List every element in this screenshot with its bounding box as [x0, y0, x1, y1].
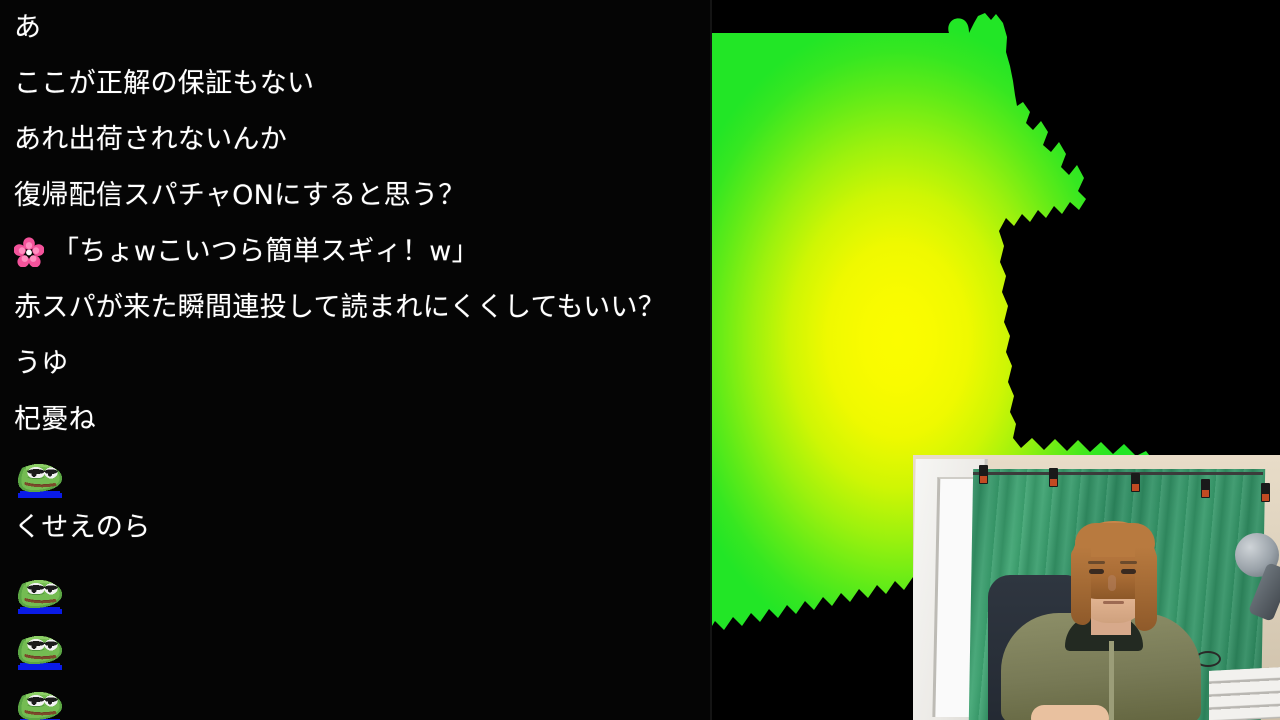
pepe-sadge-emote-icon	[14, 460, 70, 500]
streamer-webcam-overlay[interactable]	[913, 455, 1280, 720]
chat-message-text: うゆ	[14, 349, 69, 379]
streamer-hair-right	[1135, 547, 1157, 631]
curtain-clip	[1201, 479, 1210, 498]
nose	[1108, 575, 1116, 591]
chat-message[interactable]: 杞憂ね	[0, 392, 711, 448]
pepe-sadge-emote	[14, 460, 70, 500]
curtain-clip	[979, 465, 988, 484]
chat-message[interactable]	[0, 624, 711, 680]
pepe-sadge-emote-icon	[14, 576, 70, 616]
mouth	[1103, 601, 1124, 604]
stream-overlay-stage: あここが正解の保証もないあれ出荷されないんか復帰配信スパチャONにすると思う？「…	[0, 0, 1280, 720]
eye-left	[1089, 569, 1104, 574]
curtain-clip	[1261, 483, 1270, 502]
chat-message[interactable]: 復帰配信スパチャONにすると思う？	[0, 168, 711, 224]
chat-message-text: 赤スパが来た瞬間連投して読まれにくくしてもいい？	[14, 293, 665, 323]
pepe-sadge-emote	[14, 576, 70, 616]
chat-message[interactable]: ここが正解の保証もない	[0, 56, 711, 112]
chat-message[interactable]: あ	[0, 0, 711, 56]
jacket-zipper	[1109, 641, 1114, 720]
eyebrow-right	[1120, 561, 1137, 564]
chat-message[interactable]: くせえのら	[0, 500, 711, 556]
chat-message-text: 復帰配信スパチャONにすると思う？	[14, 181, 466, 211]
curtain-clip	[1049, 468, 1058, 487]
chat-message-text: ここが正解の保証もない	[14, 69, 314, 99]
curtain-clip	[1131, 473, 1140, 492]
chat-message-text: あれ出荷されないんか	[14, 125, 287, 155]
chat-message[interactable]: うゆ	[0, 336, 711, 392]
eyebrow-left	[1088, 561, 1105, 564]
chat-message-text: 杞憂ね	[14, 405, 96, 435]
streamer-hair-left	[1071, 547, 1091, 625]
cherry-blossom-icon	[14, 237, 44, 267]
eye-right	[1121, 569, 1136, 574]
live-chat-panel[interactable]: あここが正解の保証もないあれ出荷されないんか復帰配信スパチャONにすると思う？「…	[0, 0, 711, 720]
chat-message-text: 「ちょwこいつら簡単スギィ！w」	[52, 237, 479, 267]
chat-message[interactable]: あれ出荷されないんか	[0, 112, 711, 168]
book-stack	[1209, 667, 1280, 720]
chat-message-text: くせえのら	[14, 513, 151, 543]
pepe-sadge-emote	[14, 632, 70, 672]
chat-message[interactable]	[0, 568, 711, 624]
chat-message[interactable]	[0, 680, 711, 720]
chat-message-text: あ	[14, 13, 41, 43]
pepe-sadge-emote-icon	[14, 632, 70, 672]
cherry-blossom-icon	[14, 237, 44, 267]
pepe-sadge-emote-icon	[14, 688, 70, 720]
curtain-rod	[973, 472, 1263, 475]
chat-message[interactable]: 赤スパが来た瞬間連投して読まれにくくしてもいい？	[0, 280, 711, 336]
chat-message[interactable]: 「ちょwこいつら簡単スギィ！w」	[0, 224, 711, 280]
streamer-hand	[1031, 705, 1109, 720]
pepe-sadge-emote	[14, 688, 70, 720]
